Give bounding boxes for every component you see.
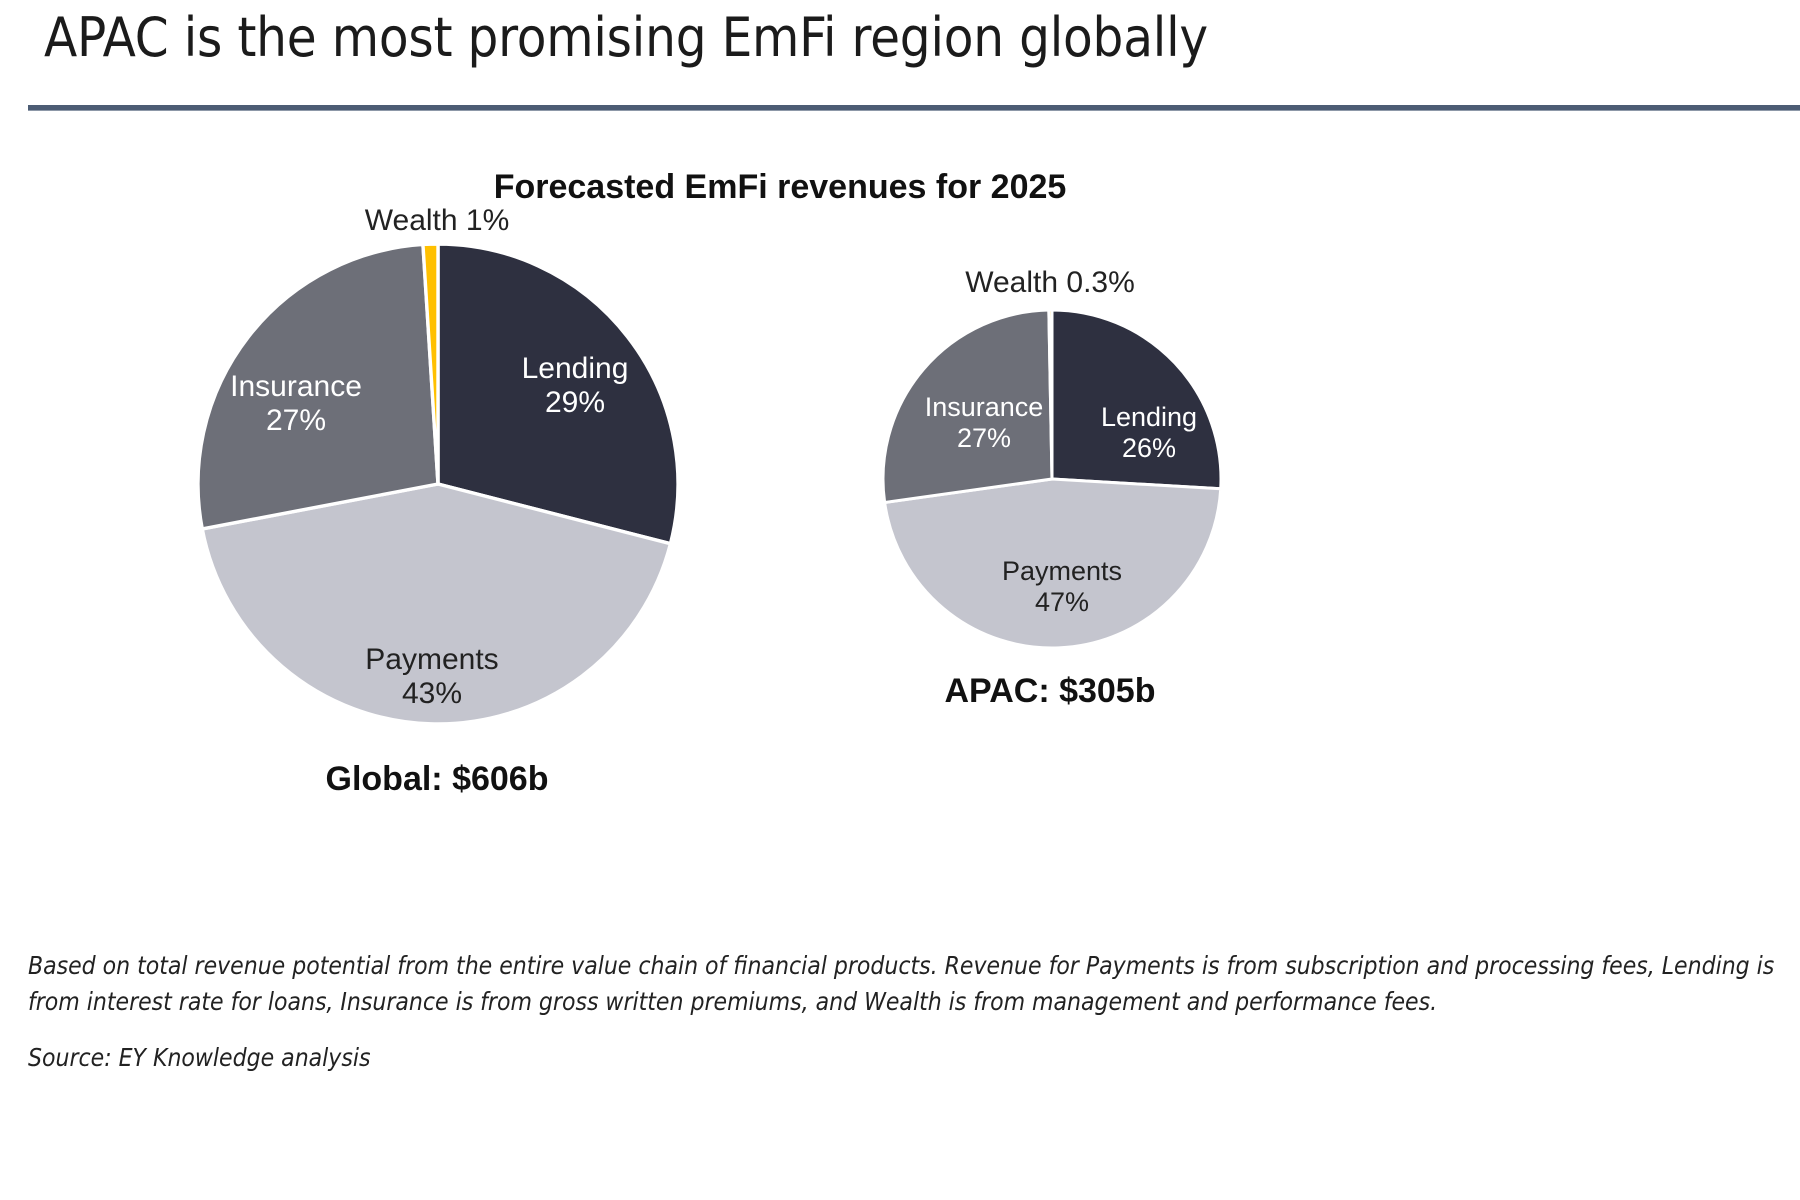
page-title: APAC is the most promising EmFi region g…	[44, 6, 1208, 69]
global-pie-svg	[197, 243, 679, 725]
apac-total-caption: APAC: $305b	[880, 672, 1220, 711]
pie-slice-insurance	[883, 310, 1052, 502]
footnote-text: Based on total revenue potential from th…	[28, 948, 1778, 1019]
source-note: Source: EY Knowledge analysis	[28, 1043, 1028, 1072]
global-wealth-callout: Wealth 1%	[237, 204, 637, 238]
chart-title: Forecasted EmFi revenues for 2025	[0, 168, 1560, 207]
global-pie-chart	[197, 243, 679, 725]
global-total-caption: Global: $606b	[197, 760, 677, 799]
slide-canvas: APAC is the most promising EmFi region g…	[0, 0, 1800, 1200]
title-divider	[28, 105, 1800, 110]
pie-slice-insurance	[198, 244, 438, 528]
pie-slice-payments	[885, 479, 1221, 648]
apac-wealth-callout: Wealth 0.3%	[856, 266, 1244, 300]
apac-pie-svg	[882, 309, 1222, 649]
pie-slice-lending	[1052, 310, 1221, 489]
apac-pie-chart	[882, 309, 1222, 649]
